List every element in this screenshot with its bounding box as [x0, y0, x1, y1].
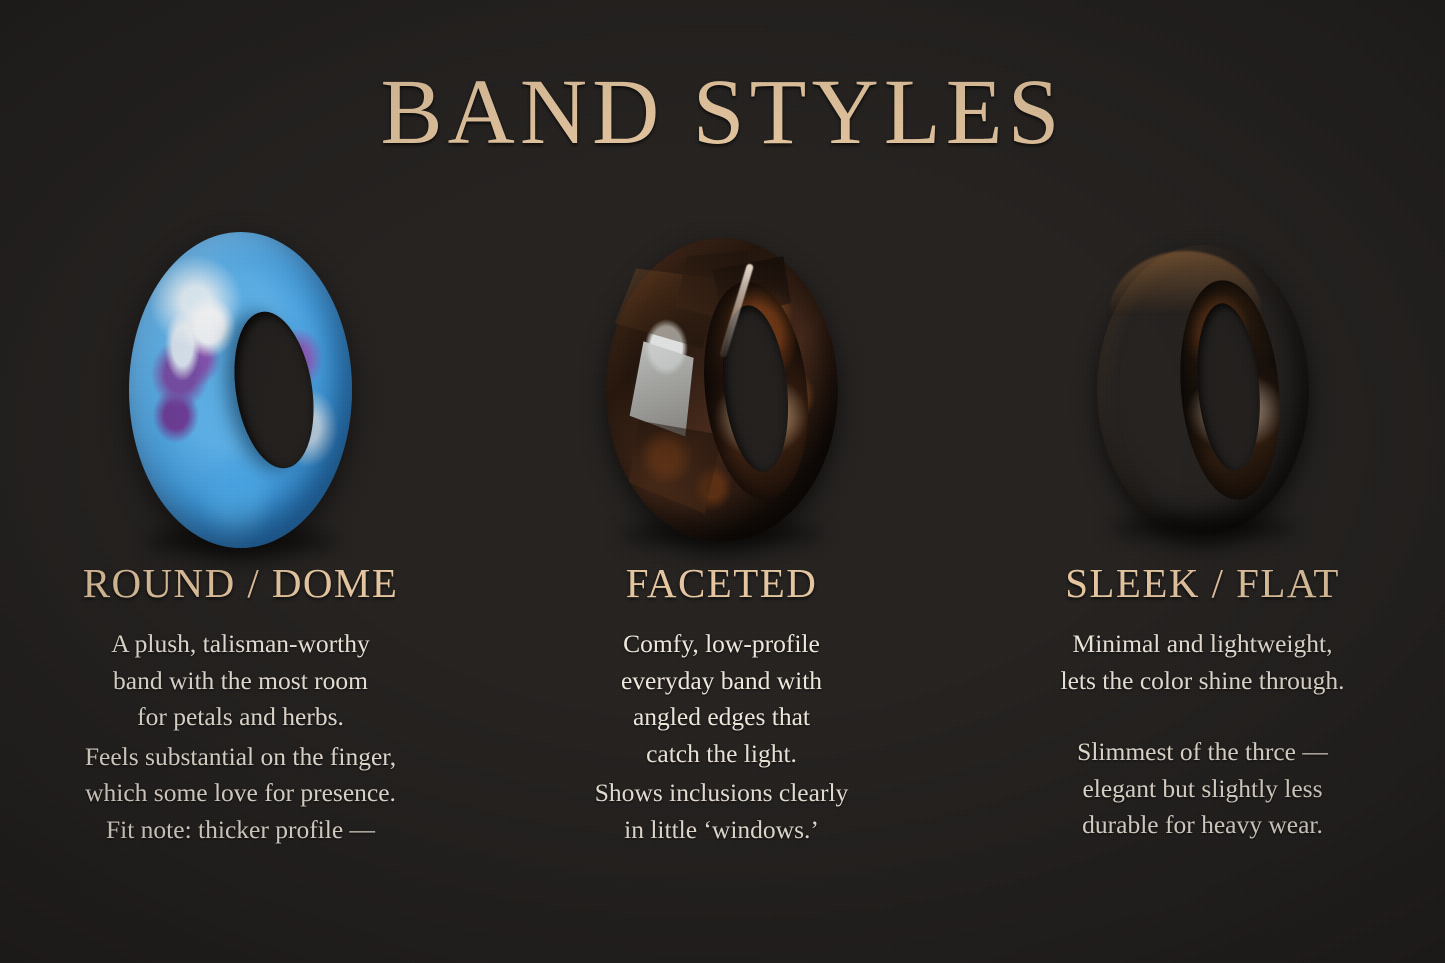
description-line: Shows inclusions clearly — [512, 775, 932, 812]
description-paragraph: Shows inclusions clearly in little ‘wind… — [512, 775, 932, 848]
description-paragraph: Feels substantial on the finger, which s… — [6, 739, 476, 849]
description-line: Minimal and lightweight, — [988, 626, 1418, 663]
round-dome-ring-image — [129, 232, 352, 548]
band-style-description-sleek-flat: Minimal and lightweight, lets the color … — [988, 626, 1418, 844]
sleek-flat-ring-image — [1097, 245, 1309, 535]
description-line: Fit note: thicker profile — — [6, 812, 476, 849]
poster-canvas: BAND STYLES ROUND / DOME A plush, talism… — [0, 0, 1445, 963]
band-style-description-faceted: Comfy, low-profile everyday band with an… — [512, 626, 932, 849]
band-style-heading-sleek-flat: SLEEK / FLAT — [1065, 563, 1340, 604]
band-style-columns: ROUND / DOME A plush, talisman-worthy ba… — [0, 225, 1445, 849]
description-line: angled edges that — [512, 699, 932, 736]
ring-stage-sleek-flat — [962, 225, 1443, 555]
description-line: everyday band with — [512, 663, 932, 700]
description-paragraph: Comfy, low-profile everyday band with an… — [512, 626, 932, 773]
band-style-column-round-dome: ROUND / DOME A plush, talisman-worthy ba… — [0, 225, 481, 849]
description-line: Feels substantial on the finger, — [6, 739, 476, 776]
description-line: lets the color shine through. — [988, 663, 1418, 700]
ring-stage-faceted — [481, 225, 962, 555]
band-style-heading-faceted: FACETED — [626, 563, 818, 604]
band-style-column-faceted: FACETED Comfy, low-profile everyday band… — [481, 225, 962, 849]
ring-stage-round-dome — [0, 225, 481, 555]
band-style-heading-round-dome: ROUND / DOME — [83, 563, 399, 604]
description-line: catch the light. — [512, 736, 932, 773]
page-title: BAND STYLES — [0, 66, 1445, 159]
description-paragraph: Slimmest of the thrce — elegant but slig… — [988, 734, 1418, 844]
description-line: band with the most room — [6, 663, 476, 700]
description-line: in little ‘windows.’ — [512, 812, 932, 849]
description-line: durable for heavy wear. — [988, 807, 1418, 844]
band-style-column-sleek-flat: SLEEK / FLAT Minimal and lightweight, le… — [962, 225, 1443, 849]
description-line: Comfy, low-profile — [512, 626, 932, 663]
description-line: A plush, talisman-worthy — [6, 626, 476, 663]
description-line: which some love for presence. — [6, 775, 476, 812]
description-line: for petals and herbs. — [6, 699, 476, 736]
description-paragraph: Minimal and lightweight, lets the color … — [988, 626, 1418, 699]
description-line: Slimmest of the thrce — — [988, 734, 1418, 771]
description-paragraph: A plush, talisman-worthy band with the m… — [6, 626, 476, 736]
description-line: elegant but slightly less — [988, 771, 1418, 808]
band-style-description-round-dome: A plush, talisman-worthy band with the m… — [6, 626, 476, 849]
faceted-ring-image — [606, 238, 838, 542]
